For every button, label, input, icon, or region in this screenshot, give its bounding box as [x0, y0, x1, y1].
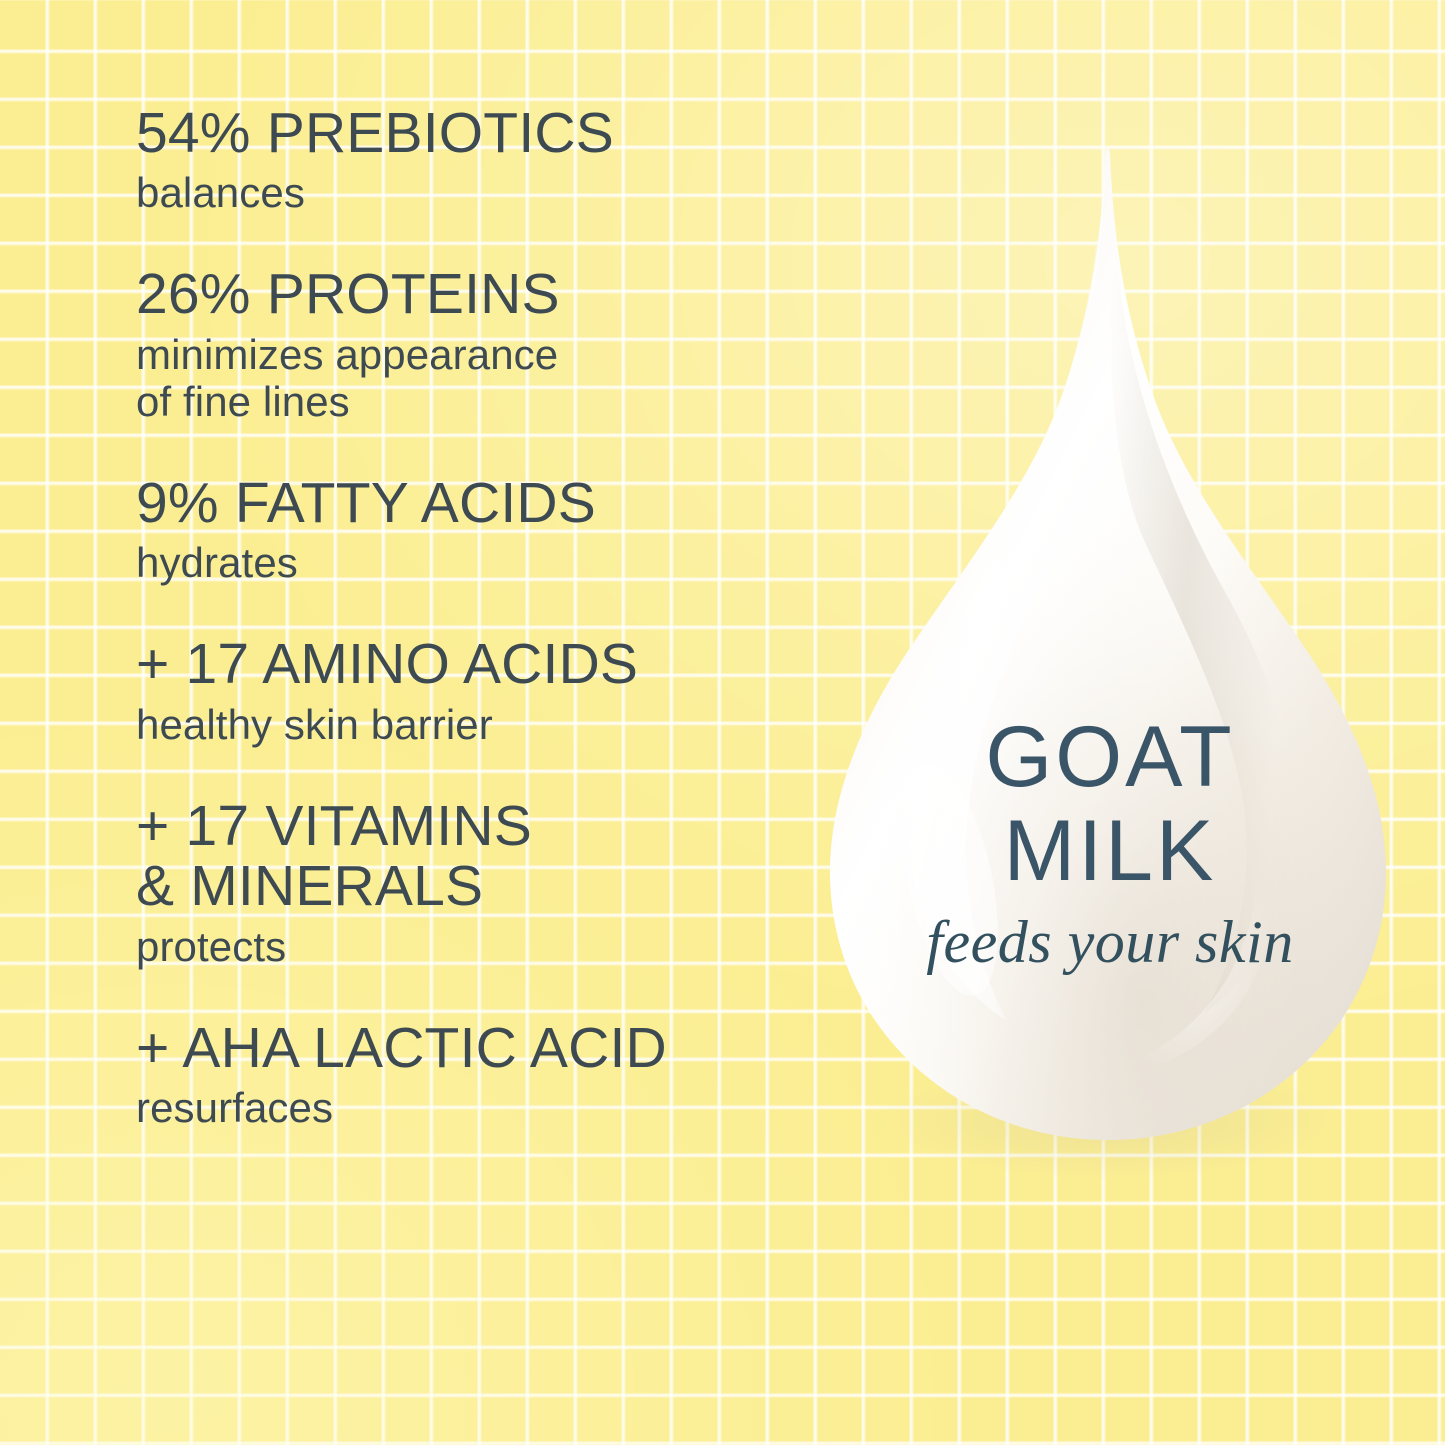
droplet-icon: [800, 120, 1420, 1180]
ingredient-item-proteins: 26% PROTEINS minimizes appearance of fin…: [136, 264, 796, 424]
ingredient-benefit: minimizes appearance of fine lines: [136, 331, 796, 425]
ingredient-headline: + 17 VITAMINS & MINERALS: [136, 796, 796, 917]
ingredient-headline: 26% PROTEINS: [136, 264, 796, 324]
ingredient-headline: + 17 AMINO ACIDS: [136, 634, 796, 694]
ingredient-item-fatty-acids: 9% FATTY ACIDS hydrates: [136, 473, 796, 586]
ingredient-item-aha-lactic-acid: + AHA LACTIC ACID resurfaces: [136, 1018, 796, 1131]
ingredient-item-vitamins-minerals: + 17 VITAMINS & MINERALS protects: [136, 796, 796, 970]
milk-droplet-graphic: GOAT MILK feeds your skin: [800, 120, 1420, 1180]
ingredient-headline: 54% PREBIOTICS: [136, 103, 796, 163]
ingredient-benefit: balances: [136, 169, 796, 216]
goat-milk-ingredient-poster: 54% PREBIOTICS balances 26% PROTEINS min…: [0, 0, 1445, 1445]
ingredient-item-amino-acids: + 17 AMINO ACIDS healthy skin barrier: [136, 634, 796, 747]
ingredient-headline: 9% FATTY ACIDS: [136, 473, 796, 533]
ingredient-item-prebiotics: 54% PREBIOTICS balances: [136, 103, 796, 216]
ingredient-list: 54% PREBIOTICS balances 26% PROTEINS min…: [136, 103, 796, 1179]
ingredient-benefit: hydrates: [136, 539, 796, 586]
ingredient-benefit: protects: [136, 923, 796, 970]
ingredient-benefit: healthy skin barrier: [136, 701, 796, 748]
ingredient-headline: + AHA LACTIC ACID: [136, 1018, 796, 1078]
ingredient-benefit: resurfaces: [136, 1084, 796, 1131]
